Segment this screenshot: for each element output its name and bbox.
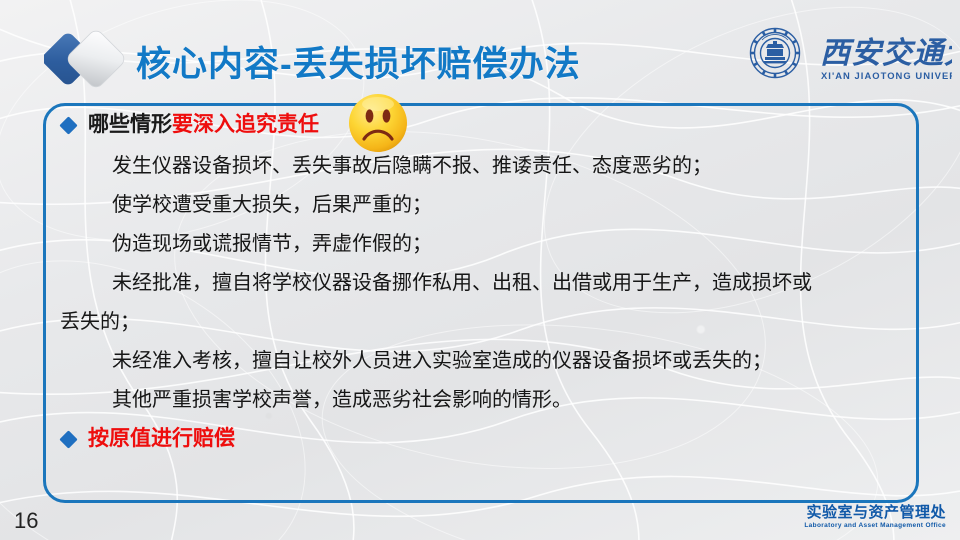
dual-diamond-logo-icon [44, 29, 128, 89]
footer-brand: 实验室与资产管理处 Laboratory and Asset Managemen… [804, 505, 946, 530]
slide-canvas: 核心内容-丢失损坏赔偿办法 [0, 0, 960, 540]
bullet-1-highlight: 要深入追究责任 [172, 113, 319, 136]
list-item: 使学校遭受重大损失，后果严重的； [112, 186, 906, 225]
slide-header: 核心内容-丢失损坏赔偿办法 [0, 0, 960, 96]
bullet-item-1: 哪些情形要深入追究责任 [62, 108, 906, 142]
page-title: 核心内容-丢失损坏赔偿办法 [136, 36, 581, 87]
list-item-continuation: 丢失的； [60, 303, 906, 342]
list-item: 未经准入考核，擅自让校外人员进入实验室造成的仪器设备损坏或丢失的； [112, 342, 906, 381]
list-item: 伪造现场或谎报情节，弄虚作假的； [112, 225, 906, 264]
svg-text:西安交通大学: 西安交通大学 [820, 36, 952, 70]
university-logo: 西安交通大学 XI'AN JIAOTONG UNIVERSITY [744, 26, 952, 88]
list-item: 其他严重损害学校声誉，造成恶劣社会影响的情形。 [112, 381, 906, 420]
diamond-bullet-icon [59, 116, 77, 134]
footer-department-cn: 实验室与资产管理处 [804, 505, 946, 520]
diamond-bullet-icon [59, 430, 77, 448]
list-item: 未经批准，擅自将学校仪器设备挪作私用、出租、出借或用于生产，造成损坏或 [112, 264, 906, 303]
svg-text:XI'AN JIAOTONG UNIVERSITY: XI'AN JIAOTONG UNIVERSITY [821, 70, 952, 81]
bullet-item-2: 按原值进行赔偿 [62, 422, 906, 456]
bullet-1-plain: 哪些情形 [88, 113, 172, 136]
list-item: 发生仪器设备损坏、丢失事故后隐瞒不报、推诿责任、态度恶劣的； [112, 147, 906, 186]
bullet-item-2-text: 按原值进行赔偿 [88, 422, 235, 456]
footer-department-en: Laboratory and Asset Management Office [804, 523, 946, 530]
bullet-item-1-text: 哪些情形要深入追究责任 [88, 108, 319, 142]
content-text-body: 哪些情形要深入追究责任 发生仪器设备损坏、丢失事故后隐瞒不报、推诿责任、态度恶劣… [60, 108, 906, 456]
sad-face-emoji [347, 92, 409, 154]
page-number: 16 [14, 508, 38, 534]
